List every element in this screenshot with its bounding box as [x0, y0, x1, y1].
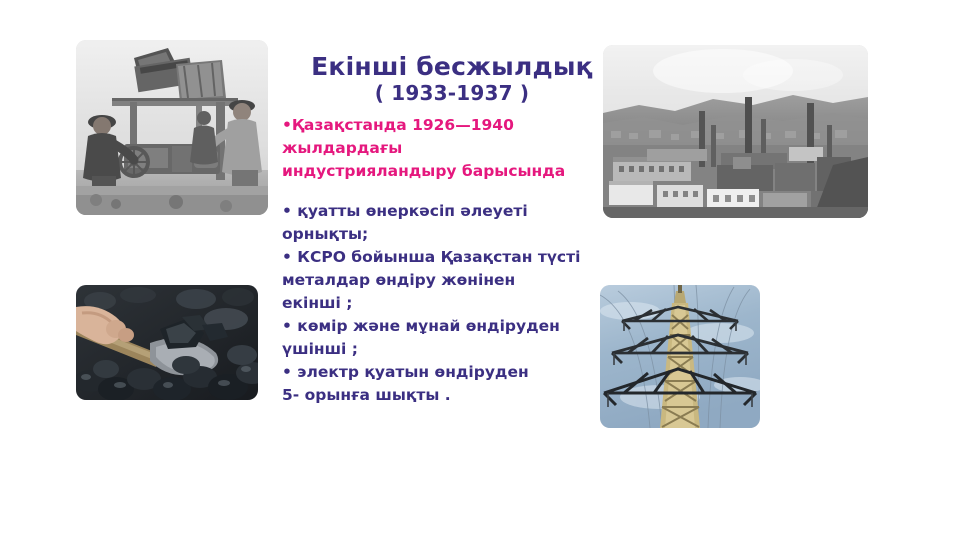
workers-machinery-image: [76, 40, 268, 215]
body-bullet-list: • қуатты өнеркәсіп әлеуеті орнықты; • КС…: [282, 200, 612, 407]
factory-panorama-photo: [603, 45, 868, 218]
coal-shovel-photo: [76, 285, 258, 400]
intro-line-2: жылдардағы: [282, 137, 604, 160]
power-pylon-photo: [600, 285, 760, 428]
body-line-9: 5- орынға шықты .: [282, 384, 612, 407]
body-line-4: металдар өндіру жөнінен: [282, 269, 612, 292]
body-line-5: екінші ;: [282, 292, 612, 315]
coal-shovel-image: [76, 285, 258, 400]
body-line-8: • электр қуатын өндіруден: [282, 361, 612, 384]
intro-line-1: •Қазақстанда 1926—1940: [282, 114, 604, 137]
body-line-7: үшінші ;: [282, 338, 612, 361]
body-line-2: орнықты;: [282, 223, 612, 246]
slide-title-line2: ( 1933-1937 ): [282, 81, 622, 105]
intro-paragraph: •Қазақстанда 1926—1940 жылдардағы индуст…: [282, 114, 604, 183]
intro-line-3: индустрияландыру барысында: [282, 160, 604, 183]
body-line-1: • қуатты өнеркәсіп әлеуеті: [282, 200, 612, 223]
slide-title: Екінші бесжылдық ( 1933-1937 ): [282, 52, 622, 105]
slide-canvas: Екінші бесжылдық ( 1933-1937 ) •Қазақста…: [0, 0, 960, 540]
slide-title-line1: Екінші бесжылдық: [282, 52, 622, 81]
body-line-3: • КСРО бойынша Қазақстан түсті: [282, 246, 612, 269]
power-pylon-image: [600, 285, 760, 428]
workers-machinery-photo: [76, 40, 268, 215]
factory-panorama-image: [603, 45, 868, 218]
body-line-6: • көмір және мұнай өндіруден: [282, 315, 612, 338]
